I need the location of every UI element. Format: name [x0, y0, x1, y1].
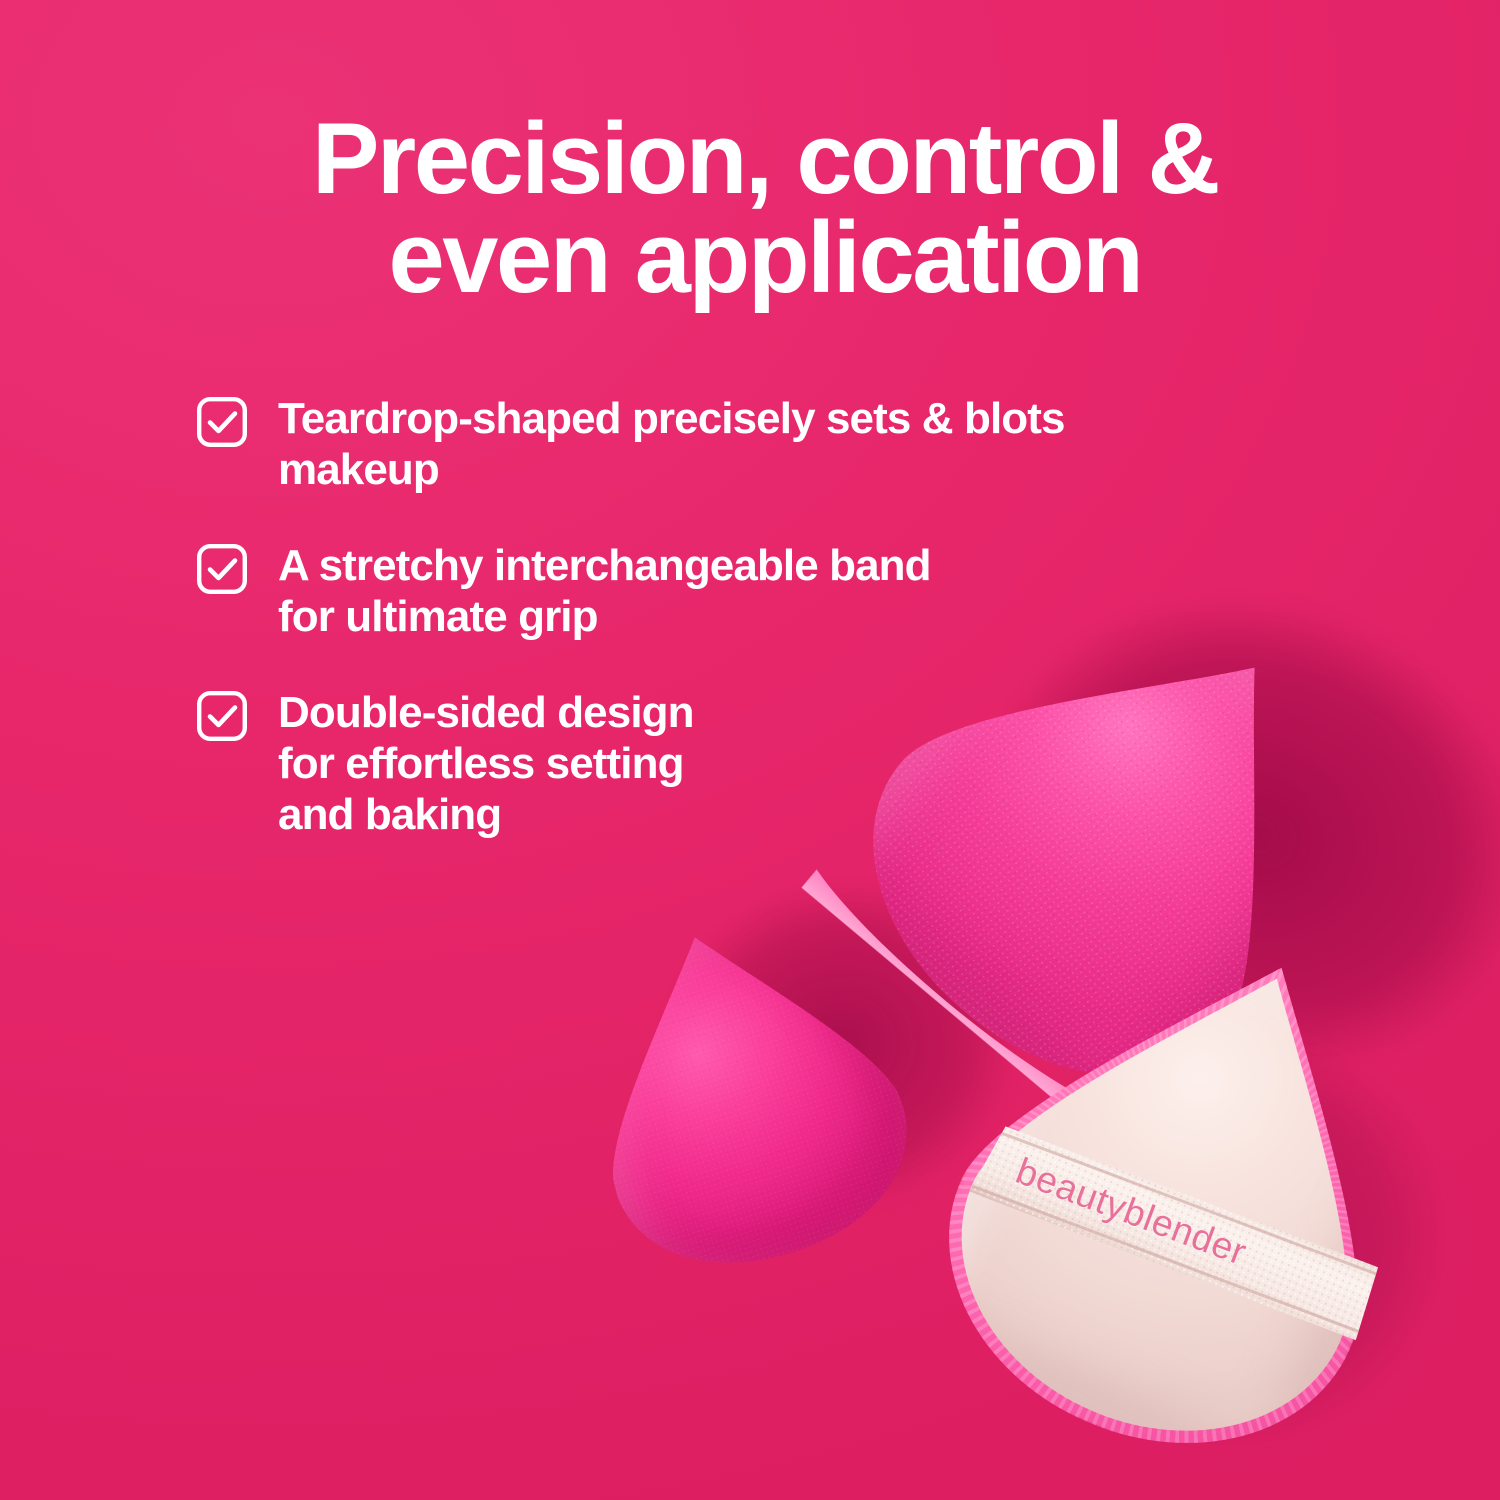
checkbox-checked-icon [196, 543, 248, 595]
cream-puff-elastic-band: beautyblender [964, 1104, 1387, 1353]
feature-text: A stretchy interchangeable band for ulti… [278, 539, 931, 642]
cream-puff-ruffle-texture [893, 885, 1476, 1500]
checkbox-checked-icon [196, 396, 248, 448]
cream-puff-shadow [941, 941, 1500, 1500]
band-bottom-seam [966, 1182, 1360, 1333]
checkbox-checked-icon [196, 690, 248, 742]
beautyblender-brand-logo: beautyblender [1010, 1150, 1362, 1315]
feature-list: Teardrop-shaped precisely sets & blots m… [196, 392, 1316, 884]
cream-puff-pink-ruffle-edge [893, 885, 1476, 1500]
band-top-seam [989, 1127, 1383, 1278]
pink-teardrop-sponge [551, 893, 934, 1296]
band-weave-texture [964, 1104, 1387, 1353]
cream-powder-puff: beautyblender [909, 901, 1461, 1490]
sponge-body [551, 893, 934, 1296]
page-title: Precision, control & even application [290, 110, 1240, 308]
list-item: A stretchy interchangeable band for ulti… [196, 539, 1316, 642]
cream-puff-body [909, 901, 1461, 1490]
feature-text: Teardrop-shaped precisely sets & blots m… [278, 392, 1065, 495]
feature-text: Double-sided design for effortless setti… [278, 686, 694, 840]
list-item: Teardrop-shaped precisely sets & blots m… [196, 392, 1316, 495]
list-item: Double-sided design for effortless setti… [196, 686, 1316, 840]
product-feature-banner: beautyblender Precision, control & even … [0, 0, 1500, 1500]
sponge-texture [551, 893, 934, 1296]
sponge-shadow [630, 846, 1051, 1244]
